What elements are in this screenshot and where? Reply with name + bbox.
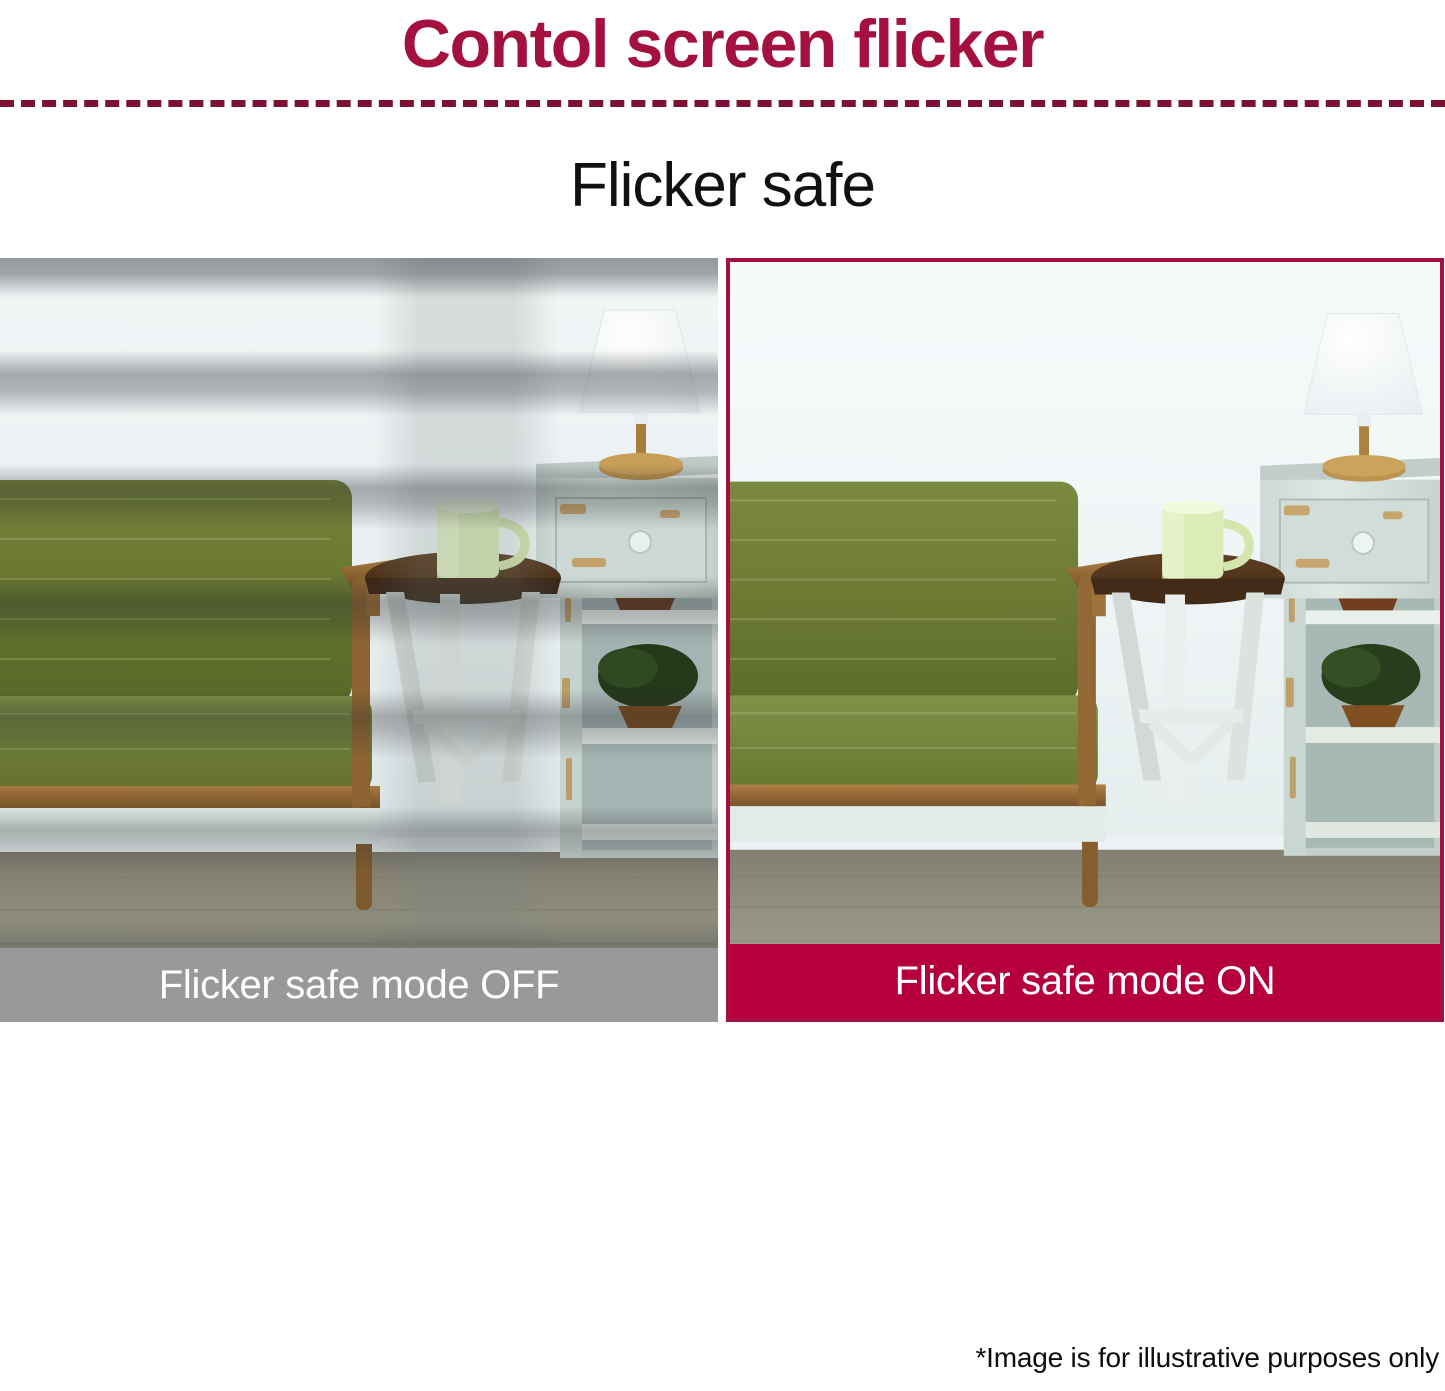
- scene-flicker-off: [0, 258, 718, 1022]
- living-room-illustration-off: [0, 258, 718, 1022]
- page-root: Contol screen flicker Flicker safe: [0, 0, 1445, 1391]
- panel-flicker-off: Flicker safe mode OFF: [0, 258, 718, 1022]
- caption-flicker-off: Flicker safe mode OFF: [0, 948, 718, 1022]
- comparison-container: Flicker safe mode OFF: [0, 258, 1445, 1022]
- dashed-divider: [0, 100, 1445, 107]
- scene-flicker-on: [730, 262, 1440, 1018]
- disclaimer-text: *Image is for illustrative purposes only: [0, 1342, 1445, 1374]
- caption-flicker-on: Flicker safe mode ON: [730, 944, 1440, 1018]
- feature-subtitle: Flicker safe: [0, 140, 1445, 232]
- panel-flicker-on: Flicker safe mode ON: [726, 258, 1444, 1022]
- page-title: Contol screen flicker: [0, 2, 1445, 86]
- living-room-illustration-on: [730, 262, 1440, 1018]
